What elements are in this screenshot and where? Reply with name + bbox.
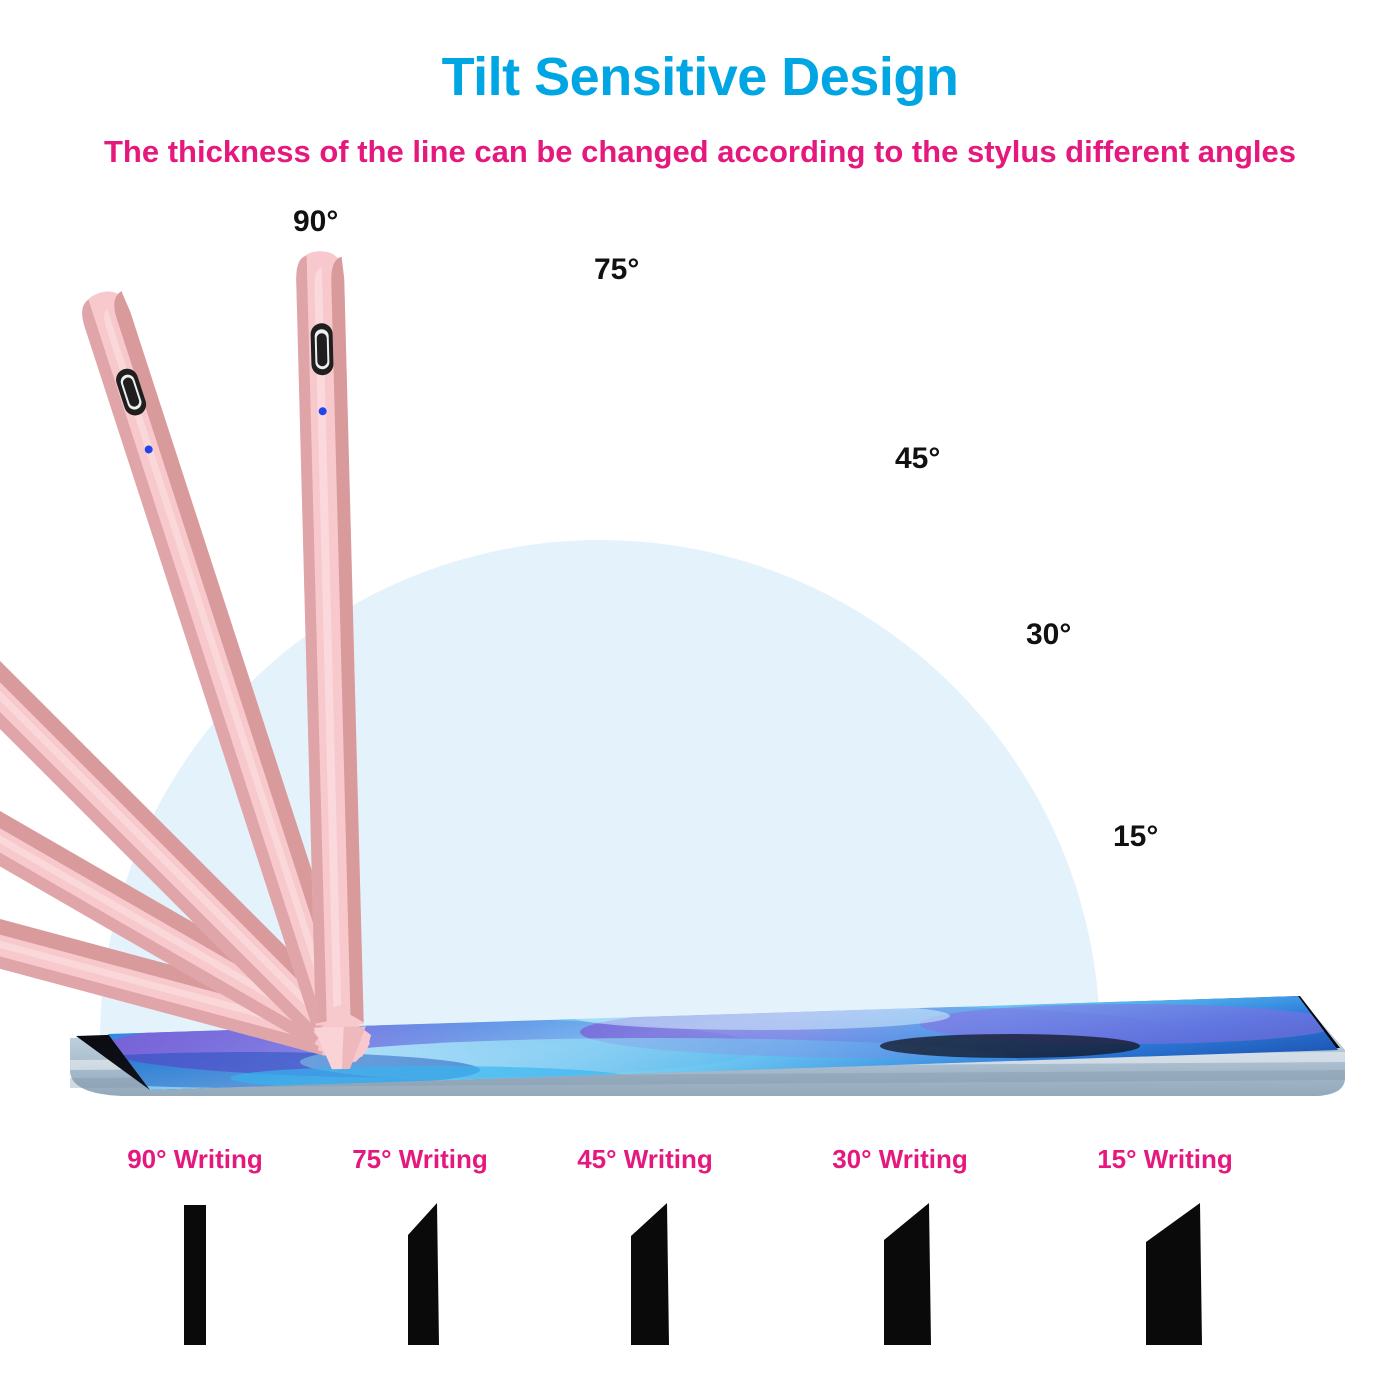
writing-stroke-legend: 90° Writing 75° Writing 45° Writing <box>0 1120 1400 1400</box>
legend-item-75: 75° Writing <box>310 1120 530 1400</box>
legend-label-30: 30° Writing <box>790 1144 1010 1175</box>
legend-item-90: 90° Writing <box>85 1120 305 1400</box>
tilt-sensitive-infographic: Tilt Sensitive Design The thickness of t… <box>0 0 1400 1400</box>
legend-label-15: 15° Writing <box>1055 1144 1275 1175</box>
stylus-angle-illustration: 90° 75° 45° 30° 15° <box>0 0 1400 1120</box>
stroke-sample-75 <box>310 1200 530 1365</box>
legend-label-75: 75° Writing <box>310 1144 530 1175</box>
stroke-sample-90 <box>85 1200 305 1365</box>
stroke-sample-15 <box>1055 1200 1275 1365</box>
angle-label-30: 30° <box>1026 618 1071 652</box>
angle-label-90: 90° <box>293 205 338 239</box>
angle-label-45: 45° <box>895 442 940 476</box>
legend-label-45: 45° Writing <box>535 1144 755 1175</box>
stroke-sample-30 <box>790 1200 1010 1365</box>
angle-label-15: 15° <box>1113 820 1158 854</box>
legend-label-90: 90° Writing <box>85 1144 305 1175</box>
stroke-sample-45 <box>535 1200 755 1365</box>
angle-label-75: 75° <box>594 253 639 287</box>
legend-item-15: 15° Writing <box>1055 1120 1275 1400</box>
legend-item-30: 30° Writing <box>790 1120 1010 1400</box>
legend-item-45: 45° Writing <box>535 1120 755 1400</box>
